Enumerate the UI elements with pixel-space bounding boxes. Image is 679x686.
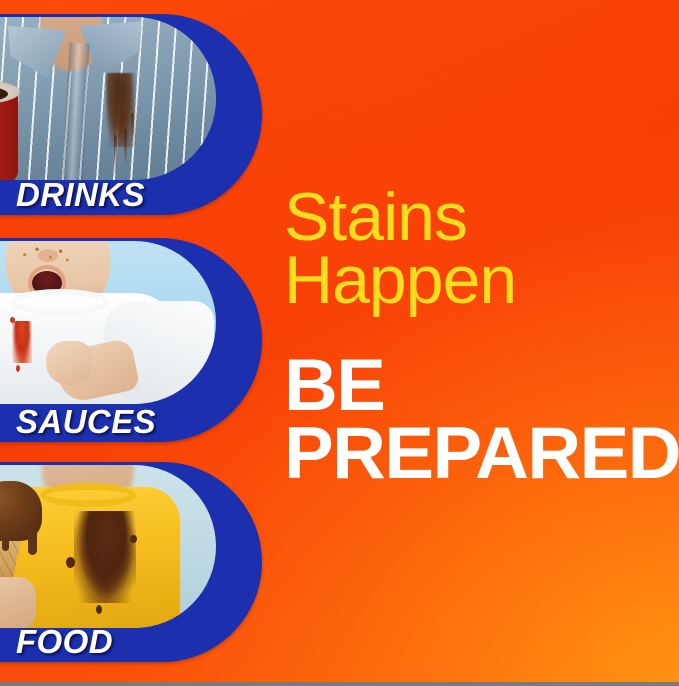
headline-secondary: BE PREPARED: [284, 352, 679, 488]
headline-block: Stains Happen: [284, 186, 674, 311]
headline-primary: Stains Happen: [284, 186, 674, 311]
category-card-drinks[interactable]: DRINKS: [0, 14, 262, 215]
stain-drip: [124, 129, 127, 163]
bottom-edge-strip: [0, 682, 679, 686]
category-photo-drinks: [0, 17, 216, 180]
scene-drinks: [0, 17, 216, 180]
face-crumbs: [18, 245, 74, 269]
tshirt-collar: [40, 483, 136, 507]
category-label-sauces: SAUCES: [16, 405, 156, 438]
sauce-splash-icon: [12, 321, 32, 363]
chocolate-splat: [96, 605, 102, 614]
chocolate-splat: [66, 557, 75, 568]
stain-drip: [114, 135, 117, 175]
category-card-food[interactable]: FOOD: [0, 462, 262, 662]
advertisement-banner: DRINKS SAUCES: [0, 0, 679, 686]
sauce-speck: [26, 333, 30, 338]
sauce-speck: [16, 365, 20, 372]
melt-drip: [28, 529, 37, 555]
stain-drip: [131, 113, 134, 137]
hand: [46, 341, 92, 385]
category-label-food: FOOD: [16, 625, 113, 658]
hand: [0, 577, 36, 628]
category-card-sauces[interactable]: SAUCES: [0, 238, 262, 442]
scene-food: [0, 465, 216, 628]
sauce-speck: [10, 317, 15, 323]
category-photo-sauces: [0, 241, 216, 404]
category-photo-food: [0, 465, 216, 628]
tshirt-collar: [10, 289, 110, 315]
melt-drip: [2, 537, 9, 551]
scene-sauces: [0, 241, 216, 404]
chocolate-splat: [130, 535, 137, 543]
category-label-drinks: DRINKS: [16, 178, 145, 211]
chocolate-stain: [74, 511, 136, 603]
